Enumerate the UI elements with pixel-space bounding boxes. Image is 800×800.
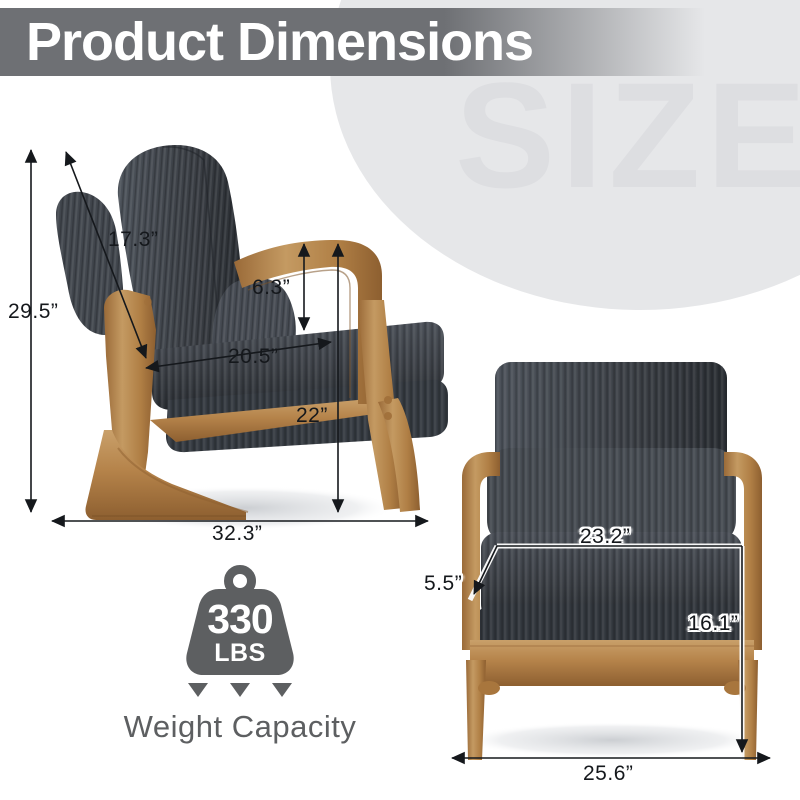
dim-seat-height: 16.1” bbox=[688, 612, 738, 636]
dim-seat-depth: 20.5” bbox=[228, 345, 278, 369]
dim-overall-depth: 32.3” bbox=[212, 522, 262, 546]
side-seat-cushion bbox=[150, 322, 448, 452]
dimension-arrows-side bbox=[31, 150, 428, 521]
dim-arm-height: 22” bbox=[296, 404, 328, 428]
weight-value: 330 bbox=[179, 599, 301, 640]
dim-seat-width-inner: 23.2” bbox=[580, 525, 630, 549]
infographic-canvas: SIZE Product Dimensions bbox=[0, 0, 800, 800]
dim-overall-height: 29.5” bbox=[8, 300, 58, 324]
dimension-arrows-front-core bbox=[452, 546, 770, 758]
dim-cushion-thickness: 5.5” bbox=[424, 572, 462, 596]
side-backrest-cushion bbox=[118, 145, 244, 380]
side-rear-pad bbox=[56, 192, 124, 335]
weight-unit: LBS bbox=[179, 641, 301, 666]
front-wood-frame bbox=[462, 452, 762, 760]
down-triangle-icon bbox=[230, 683, 250, 697]
dim-overall-width: 25.6” bbox=[583, 762, 633, 786]
chair-front-view bbox=[462, 362, 762, 760]
weight-capacity-caption: Weight Capacity bbox=[95, 709, 385, 745]
down-triangle-icon bbox=[188, 683, 208, 697]
front-backrest-cushion bbox=[495, 362, 727, 482]
size-watermark: SIZE bbox=[455, 60, 800, 210]
dim-arm-clearance: 6.3” bbox=[252, 276, 290, 300]
down-triangle-icon bbox=[272, 683, 292, 697]
dim-backrest-height: 17.3” bbox=[108, 228, 158, 252]
weight-capacity-block: 330 LBS Weight Capacity bbox=[95, 565, 385, 745]
weight-arrows bbox=[179, 683, 301, 697]
page-title: Product Dimensions bbox=[26, 12, 533, 72]
dimension-arrows-front bbox=[470, 546, 742, 760]
weight-kettlebell-icon: 330 LBS bbox=[179, 565, 301, 677]
